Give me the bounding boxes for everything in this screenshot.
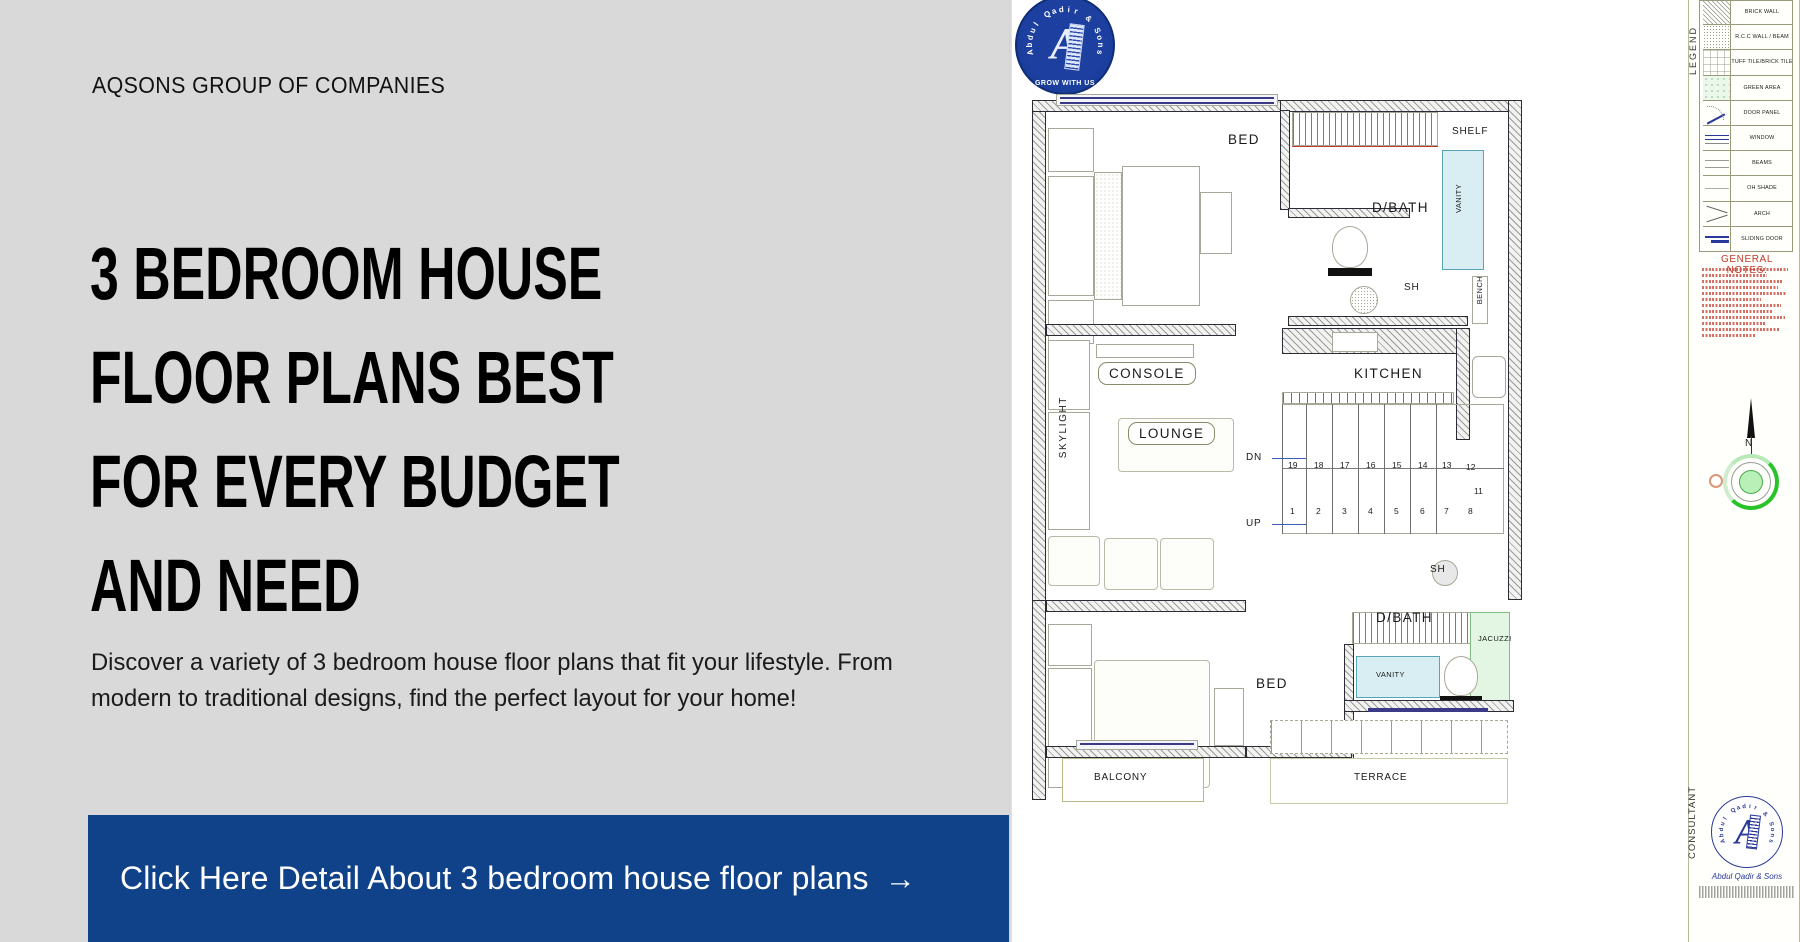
room-label-bed-top: BED bbox=[1228, 132, 1260, 147]
sink-icon bbox=[1472, 356, 1506, 398]
stair-step-number: 4 bbox=[1368, 506, 1373, 516]
room-label-lounge: LOUNGE bbox=[1128, 422, 1215, 445]
legend-label: ARCH bbox=[1731, 202, 1793, 226]
title-block-address-lines bbox=[1699, 886, 1795, 898]
room-label-bench: BENCH bbox=[1475, 276, 1484, 304]
cooktop-icon bbox=[1332, 332, 1378, 352]
legend-row: ARCH bbox=[1703, 202, 1793, 227]
pillow-group-top bbox=[1048, 176, 1094, 296]
room-label-terrace: TERRACE bbox=[1354, 772, 1407, 783]
title-block-company: Abdul Qadir & Sons bbox=[1703, 872, 1791, 881]
stair-riser bbox=[1384, 404, 1385, 534]
wardrobe-edge bbox=[1292, 146, 1438, 147]
stair-step-number: 16 bbox=[1366, 460, 1375, 470]
stair-riser bbox=[1282, 404, 1283, 534]
plan-sheet: BED D/BATH SHELF SH VANITY BENCH KITCHEN… bbox=[1014, 0, 1682, 942]
legend-label: BEAMS bbox=[1731, 151, 1793, 175]
wc-lower bbox=[1444, 656, 1478, 696]
room-label-sh-top: SH bbox=[1404, 282, 1420, 293]
stair-top-rail bbox=[1282, 392, 1454, 404]
wall-bath-bottom bbox=[1288, 316, 1468, 326]
sun-core-icon bbox=[1739, 470, 1763, 494]
stair-riser bbox=[1306, 404, 1307, 534]
legend-label: TUFF TILE/BRICK TILE bbox=[1731, 50, 1793, 74]
room-label-bed-lower: BED bbox=[1256, 676, 1288, 691]
shower-drain-top bbox=[1350, 286, 1378, 314]
window-balcony bbox=[1076, 740, 1198, 750]
stair-step-number: 14 bbox=[1418, 460, 1427, 470]
room-label-dbath-top: D/BATH bbox=[1372, 200, 1429, 215]
stair-riser bbox=[1410, 404, 1411, 534]
window-swatch-icon bbox=[1703, 126, 1731, 150]
stair-step-number: 19 bbox=[1288, 460, 1297, 470]
page-title: 3 BEDROOM HOUSE FLOOR PLANS BEST FOR EVE… bbox=[90, 222, 706, 638]
banner-canvas: AQSONS GROUP OF COMPANIES 3 BEDROOM HOUS… bbox=[0, 0, 1800, 942]
oh-shade-swatch-icon bbox=[1703, 176, 1731, 200]
room-label-vanity-top: VANITY bbox=[1454, 184, 1463, 213]
legend-title: LEGEND bbox=[1688, 26, 1704, 75]
window-top bbox=[1056, 94, 1278, 106]
promo-description: Discover a variety of 3 bedroom house fl… bbox=[91, 645, 916, 717]
room-label-sh-lower: SH bbox=[1430, 564, 1446, 575]
stair-step-number: 5 bbox=[1394, 506, 1399, 516]
vanity-top bbox=[1442, 150, 1484, 270]
legend-row: TUFF TILE/BRICK TILE bbox=[1703, 50, 1793, 75]
legend-label: R.C.C WALL / BEAM bbox=[1731, 25, 1793, 49]
floor-plan-drawing: Abdul Qadir & Sons A GROW WITH US bbox=[1012, 0, 1800, 942]
skylight-shaft bbox=[1048, 340, 1090, 410]
legend-label: OH SHADE bbox=[1731, 176, 1793, 200]
wc-top bbox=[1332, 226, 1368, 268]
armchair-left bbox=[1048, 536, 1100, 586]
sofa-seat-1 bbox=[1104, 538, 1158, 590]
console-table bbox=[1096, 344, 1194, 358]
sliding-door-swatch-icon bbox=[1703, 227, 1731, 251]
legend-label: BRICK WALL bbox=[1731, 0, 1793, 24]
sofa-seat-2 bbox=[1160, 538, 1214, 590]
general-notes-body bbox=[1702, 268, 1792, 356]
wall-lounge-top bbox=[1046, 324, 1236, 336]
stair-step-number: 3 bbox=[1342, 506, 1347, 516]
consultant-label: CONSULTANT bbox=[1687, 786, 1701, 859]
sliding-door-lower bbox=[1368, 708, 1488, 712]
wardrobe-top bbox=[1292, 112, 1438, 146]
stair-step-number: 6 bbox=[1420, 506, 1425, 516]
legend-label: SLIDING DOOR bbox=[1731, 227, 1793, 251]
room-label-balcony: BALCONY bbox=[1094, 772, 1147, 783]
tuff-tile-swatch-icon bbox=[1703, 50, 1731, 74]
bed-top bbox=[1122, 166, 1200, 306]
title-block-logo: Abdul Qadir & Sons A bbox=[1711, 796, 1783, 868]
wc-base-top bbox=[1328, 268, 1372, 276]
side-table-lower bbox=[1048, 624, 1092, 666]
wall-bed-bath bbox=[1280, 110, 1290, 210]
brick-wall-swatch-icon bbox=[1703, 0, 1731, 24]
window-glazing bbox=[1060, 97, 1274, 99]
stair-riser bbox=[1436, 404, 1437, 534]
stair-step-number: 1 bbox=[1290, 506, 1295, 516]
stair-step-number: 18 bbox=[1314, 460, 1323, 470]
orientation-marker-icon bbox=[1709, 474, 1723, 488]
stair-riser bbox=[1358, 404, 1359, 534]
stair-step-number: 7 bbox=[1444, 506, 1449, 516]
legend-row: DOOR PANEL bbox=[1703, 101, 1793, 126]
side-table-top-2 bbox=[1048, 300, 1094, 344]
beams-swatch-icon bbox=[1703, 151, 1731, 175]
balcony-glazing bbox=[1080, 743, 1194, 745]
rcc-wall-swatch-icon bbox=[1703, 25, 1731, 49]
arch-swatch-icon bbox=[1703, 202, 1731, 226]
bed-bench-lower bbox=[1214, 688, 1244, 746]
room-label-skylight: SKYLIGHT bbox=[1058, 396, 1069, 458]
window-glazing-2 bbox=[1060, 102, 1274, 104]
room-label-dbath-lower: D/BATH bbox=[1376, 610, 1433, 625]
headboard-top bbox=[1094, 172, 1122, 300]
room-label-kitchen: KITCHEN bbox=[1354, 366, 1423, 381]
plan-geometry: BED D/BATH SHELF SH VANITY BENCH KITCHEN… bbox=[1032, 100, 1532, 800]
room-label-vanity-lower: VANITY bbox=[1376, 670, 1405, 679]
compass-rose: N bbox=[1707, 386, 1787, 516]
skylight-well bbox=[1048, 412, 1090, 530]
legend-row: BEAMS bbox=[1703, 151, 1793, 176]
north-arrow-icon bbox=[1747, 398, 1755, 438]
stair-step-number: 15 bbox=[1392, 460, 1401, 470]
stair-riser bbox=[1332, 404, 1333, 534]
compass-north-label: N bbox=[1745, 438, 1752, 449]
legend-row: OH SHADE bbox=[1703, 176, 1793, 201]
wall-lower-bed-top bbox=[1046, 600, 1246, 612]
stair-step-number: 8 bbox=[1468, 506, 1473, 516]
stair-down-arrow-line bbox=[1272, 458, 1306, 459]
stair-step-number: 17 bbox=[1340, 460, 1349, 470]
stair-step-number: 11 bbox=[1474, 486, 1483, 496]
wall-top-right bbox=[1280, 100, 1522, 112]
door-panel-swatch-icon bbox=[1703, 101, 1731, 125]
stair-step-number: 13 bbox=[1442, 460, 1451, 470]
legend-label: GREEN AREA bbox=[1731, 76, 1793, 100]
stair-step-number: 12 bbox=[1466, 462, 1475, 472]
promo-panel: AQSONS GROUP OF COMPANIES 3 BEDROOM HOUS… bbox=[0, 0, 1012, 942]
arrow-right-icon: → bbox=[885, 861, 916, 897]
stair-label-up: UP bbox=[1246, 518, 1262, 529]
wall-lower-left bbox=[1032, 600, 1046, 800]
green-area-swatch-icon bbox=[1703, 76, 1731, 100]
stair-step-number: 2 bbox=[1316, 506, 1321, 516]
bed-bench-top bbox=[1200, 192, 1232, 254]
legend-row: GREEN AREA bbox=[1703, 76, 1793, 101]
terrace-pergola bbox=[1270, 720, 1508, 754]
legend-panel: LEGEND BRICK WALL R.C.C WALL / BEAM TUFF… bbox=[1688, 0, 1800, 942]
room-label-console: CONSOLE bbox=[1098, 362, 1196, 385]
legend-row: SLIDING DOOR bbox=[1703, 227, 1793, 252]
room-label-jacuzzi: JACUZZI bbox=[1478, 634, 1512, 643]
legend-label: DOOR PANEL bbox=[1731, 101, 1793, 125]
legend-label: WINDOW bbox=[1731, 126, 1793, 150]
stair-up-arrow-line bbox=[1272, 524, 1306, 525]
legend-row: BRICK WALL bbox=[1703, 0, 1793, 25]
stair-label-down: DN bbox=[1246, 452, 1262, 463]
cta-button[interactable]: Click Here Detail About 3 bedroom house … bbox=[88, 815, 1106, 942]
brand-name: AQSONS GROUP OF COMPANIES bbox=[92, 72, 445, 99]
side-table-top bbox=[1048, 128, 1094, 172]
legend-row: WINDOW bbox=[1703, 126, 1793, 151]
room-label-shelf: SHELF bbox=[1452, 126, 1488, 137]
legend-rows: BRICK WALL R.C.C WALL / BEAM TUFF TILE/B… bbox=[1703, 0, 1793, 252]
jacuzzi-lower bbox=[1470, 612, 1510, 708]
wall-right bbox=[1508, 100, 1522, 600]
cta-label: Click Here Detail About 3 bedroom house … bbox=[120, 860, 869, 897]
legend-row: R.C.C WALL / BEAM bbox=[1703, 25, 1793, 50]
